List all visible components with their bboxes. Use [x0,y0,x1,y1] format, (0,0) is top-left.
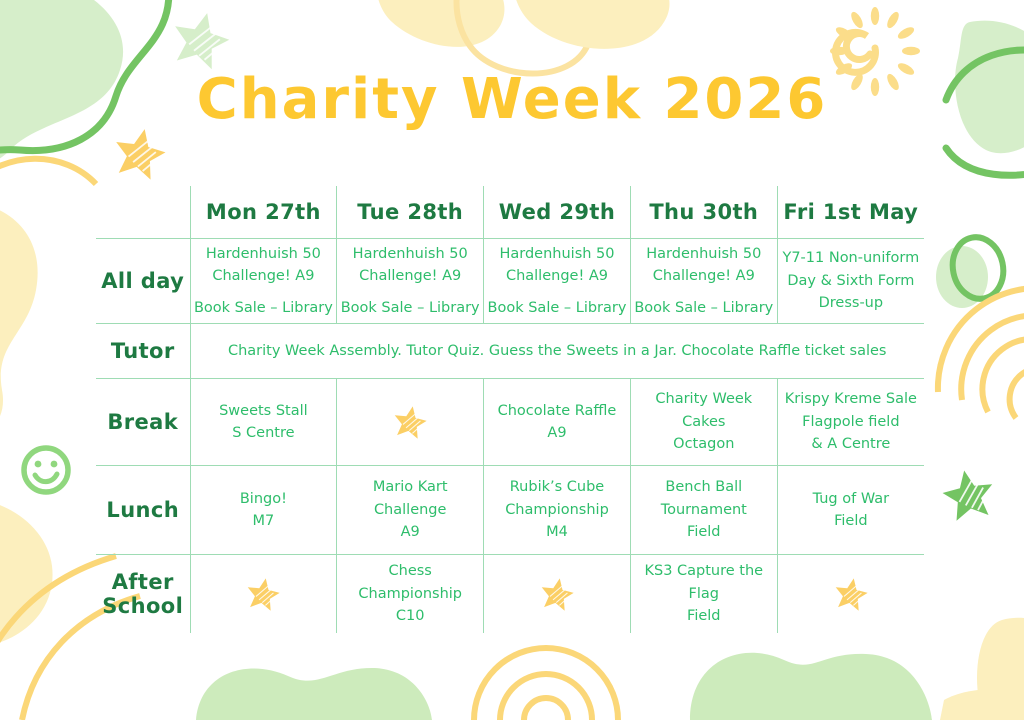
merged-cell-tutor: Charity Week Assembly. Tutor Quiz. Guess… [190,324,924,379]
cell-line: Field [778,510,924,532]
cell-line: Championship [484,499,630,521]
cell-line: Y7-11 Non-uniform [778,247,924,269]
cell-line: Hardenhuish 50 [191,243,337,265]
line-gap [484,288,630,297]
cell-line: Tug of War [778,488,924,510]
day-header-wed: Wed 29th [484,186,631,239]
day-header-thu: Thu 30th [630,186,777,239]
cell-star-placeholder [777,555,924,634]
schedule-cell: Hardenhuish 50Challenge! A9Book Sale – L… [190,239,337,324]
schedule-cell: Chess ChampionshipC10 [337,555,484,634]
cell-line: Krispy Kreme Sale [778,388,924,410]
table-row: LunchBingo!M7Mario KartChallengeA9Rubik’… [96,466,924,555]
cell-line: Rubik’s Cube [484,476,630,498]
table-header-row: Mon 27th Tue 28th Wed 29th Thu 30th Fri … [96,186,924,239]
cell-line: Tournament [631,499,777,521]
schedule-cell: Hardenhuish 50Challenge! A9Book Sale – L… [630,239,777,324]
cell-line: Flagpole field [778,411,924,433]
cell-line: Field [631,521,777,543]
row-label-all-day: All day [96,239,190,324]
schedule-cell: Krispy Kreme SaleFlagpole field& A Centr… [777,379,924,466]
cell-star-placeholder [190,555,337,634]
day-header-fri: Fri 1st May [777,186,924,239]
cell-line: Hardenhuish 50 [337,243,483,265]
schedule-cell: Charity WeekCakesOctagon [630,379,777,466]
schedule-cell: Hardenhuish 50Challenge! A9Book Sale – L… [484,239,631,324]
schedule-cell: Hardenhuish 50Challenge! A9Book Sale – L… [337,239,484,324]
cell-star-placeholder [484,555,631,634]
cell-line: M4 [484,521,630,543]
schedule-cell: Bench BallTournamentField [630,466,777,555]
table-body: All dayHardenhuish 50Challenge! A9Book S… [96,239,924,634]
cell-line: Flag [631,583,777,605]
decorative-star-icon [539,576,575,612]
cell-line: Chocolate Raffle [484,400,630,422]
decorative-star-icon [245,576,281,612]
page-title: Charity Week 2026 [0,72,1024,128]
cell-line: S Centre [191,422,337,444]
decorative-star-icon [833,576,869,612]
cell-line: Charity Week [631,388,777,410]
row-label-lunch: Lunch [96,466,190,555]
schedule-cell: Sweets StallS Centre [190,379,337,466]
cell-line: Book Sale – Library [191,297,337,319]
table-row: BreakSweets StallS CentreChocolate Raffl… [96,379,924,466]
schedule-table: Mon 27th Tue 28th Wed 29th Thu 30th Fri … [96,186,924,633]
cell-line: KS3 Capture the [631,560,777,582]
cell-line: C10 [337,605,483,627]
cell-line: & A Centre [778,433,924,455]
cell-line: Mario Kart [337,476,483,498]
table-corner-cell [96,186,190,239]
cell-line: Challenge [337,499,483,521]
schedule-cell: KS3 Capture theFlagField [630,555,777,634]
cell-line: Challenge! A9 [191,265,337,287]
cell-line: M7 [191,510,337,532]
cell-line: Book Sale – Library [337,297,483,319]
cell-line: Cakes [631,411,777,433]
row-label-after-school: After School [96,555,190,634]
cell-line: Challenge! A9 [484,265,630,287]
cell-line: A9 [484,422,630,444]
cell-line: Hardenhuish 50 [631,243,777,265]
cell-line: Bingo! [191,488,337,510]
row-label-break: Break [96,379,190,466]
schedule-cell: Rubik’s CubeChampionshipM4 [484,466,631,555]
cell-line: Chess Championship [337,560,483,605]
schedule-cell: Mario KartChallengeA9 [337,466,484,555]
schedule-cell: Chocolate RaffleA9 [484,379,631,466]
line-gap [631,288,777,297]
line-gap [337,288,483,297]
day-header-mon: Mon 27th [190,186,337,239]
cell-line: Bench Ball [631,476,777,498]
cell-line: Challenge! A9 [337,265,483,287]
cell-line: Day & Sixth Form [778,270,924,292]
cell-line: Book Sale – Library [484,297,630,319]
decorative-star-icon [392,404,428,440]
cell-line: Challenge! A9 [631,265,777,287]
table-row: All dayHardenhuish 50Challenge! A9Book S… [96,239,924,324]
row-label-tutor: Tutor [96,324,190,379]
schedule-cell: Tug of WarField [777,466,924,555]
cell-line: Field [631,605,777,627]
cell-line: Octagon [631,433,777,455]
cell-line: A9 [337,521,483,543]
schedule-cell: Y7-11 Non-uniformDay & Sixth FormDress-u… [777,239,924,324]
table-row: TutorCharity Week Assembly. Tutor Quiz. … [96,324,924,379]
cell-line: Book Sale – Library [631,297,777,319]
table-row: After SchoolChess ChampionshipC10KS3 Cap… [96,555,924,634]
line-gap [191,288,337,297]
cell-line: Sweets Stall [191,400,337,422]
schedule-cell: Bingo!M7 [190,466,337,555]
cell-star-placeholder [337,379,484,466]
cell-line: Hardenhuish 50 [484,243,630,265]
day-header-tue: Tue 28th [337,186,484,239]
cell-line: Dress-up [778,292,924,314]
